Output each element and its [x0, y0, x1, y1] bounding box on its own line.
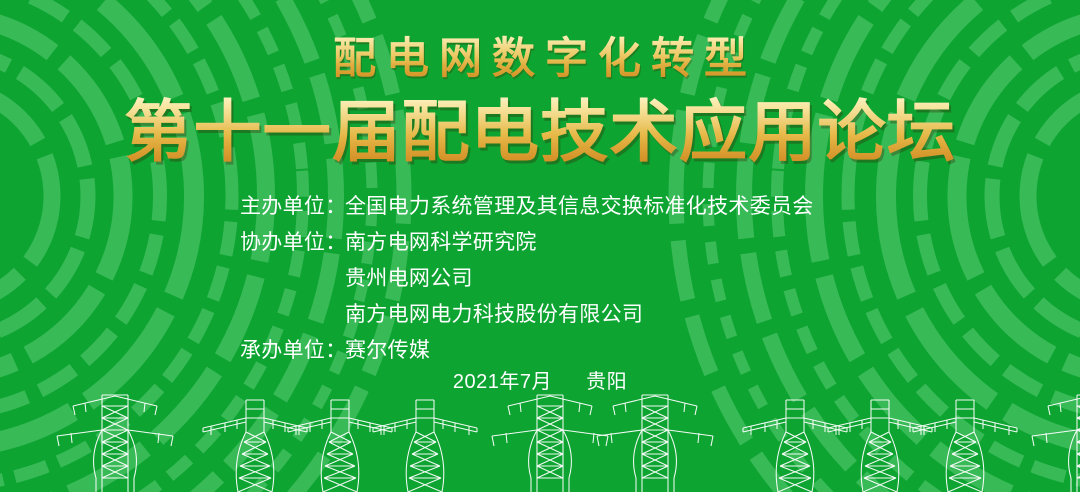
organizer-row: 贵州电网公司 [240, 261, 814, 297]
organizer-value: 全国电力系统管理及其信息交换标准化技术委员会 [345, 189, 814, 225]
organizer-value: 南方电网电力科技股份有限公司 [345, 297, 814, 333]
conference-poster: 配电网数字化转型 第十一届配电技术应用论坛 主办单位： 全国电力系统管理及其信息… [0, 0, 1080, 492]
organizer-value: 南方电网科学研究院 [345, 225, 814, 261]
event-location: 贵阳 [586, 371, 627, 393]
organizer-label: 承办单位： [240, 333, 345, 369]
organizer-row: 南方电网电力科技股份有限公司 [240, 297, 814, 333]
event-date: 2021年7月 [453, 371, 552, 393]
event-date-location: 2021年7月 贵阳 [0, 365, 1080, 394]
organizer-row: 协办单位： 南方电网科学研究院 [240, 225, 814, 261]
organizer-label: 协办单位： [240, 225, 345, 261]
organizer-row: 承办单位： 赛尔传媒 [240, 333, 814, 369]
organizer-row: 主办单位： 全国电力系统管理及其信息交换标准化技术委员会 [240, 189, 814, 225]
organizer-label: 主办单位： [240, 189, 345, 225]
organizer-value: 赛尔传媒 [345, 333, 814, 369]
organizer-value: 贵州电网公司 [345, 261, 814, 297]
poster-title-main: 配电网数字化转型 [0, 33, 1080, 85]
poster-content: 配电网数字化转型 第十一届配电技术应用论坛 主办单位： 全国电力系统管理及其信息… [0, 0, 1080, 492]
organizer-list: 主办单位： 全国电力系统管理及其信息交换标准化技术委员会 协办单位： 南方电网科… [240, 189, 814, 369]
poster-title-sub: 第十一届配电技术应用论坛 [0, 93, 1080, 173]
